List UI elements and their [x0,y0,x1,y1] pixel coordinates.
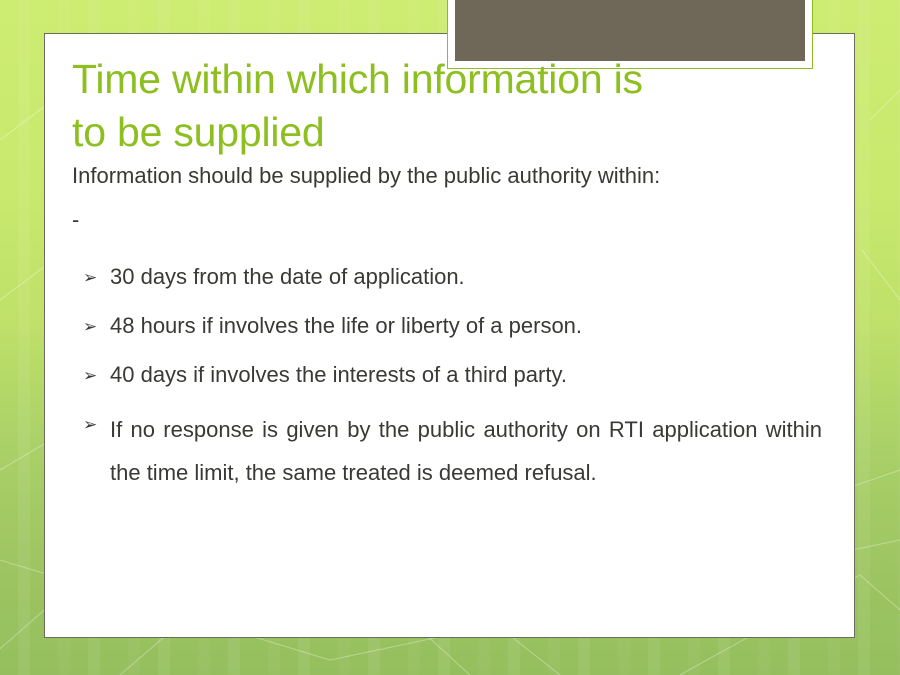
arrowhead-bullet-icon: ➢ [83,262,97,293]
list-item: ➢ 30 days from the date of application. [72,261,832,292]
list-item-label: 30 days from the date of application. [110,261,832,292]
list-item-label: 48 hours if involves the life or liberty… [110,310,832,341]
list-item: ➢ 48 hours if involves the life or liber… [72,310,832,341]
slide-body: Information should be supplied by the pu… [72,160,832,494]
presentation-slide: Time within which information is to be s… [0,0,900,675]
bullet-list: ➢ 30 days from the date of application. … [72,261,832,494]
list-item-label: If no response is given by the public au… [110,408,822,494]
list-item: ➢ If no response is given by the public … [72,408,832,494]
list-item: ➢ 40 days if involves the interests of a… [72,359,832,390]
arrowhead-bullet-icon: ➢ [83,360,97,391]
arrowhead-bullet-icon: ➢ [83,311,97,342]
arrowhead-bullet-icon: ➢ [83,409,97,440]
list-item-label: 40 days if involves the interests of a t… [110,359,832,390]
header-image-placeholder [455,0,805,61]
dash-text: - [72,204,832,235]
intro-text: Information should be supplied by the pu… [72,160,832,191]
slide-title: Time within which information is to be s… [72,53,772,159]
